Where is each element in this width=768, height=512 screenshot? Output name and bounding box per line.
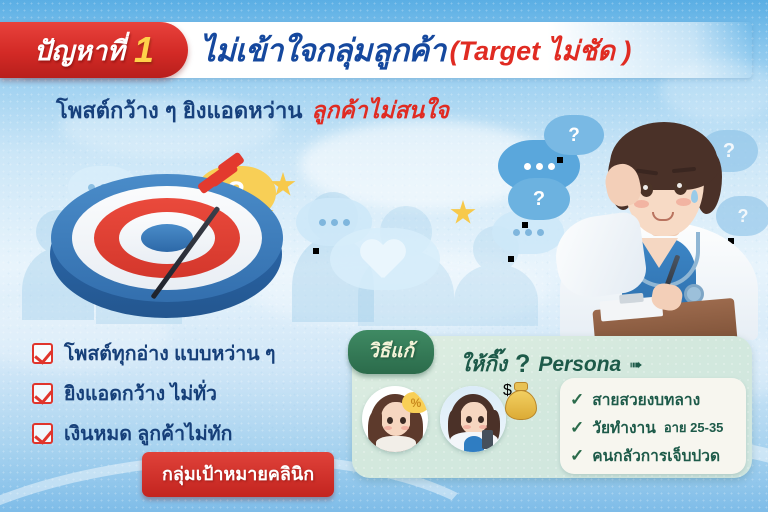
persona-trait-label: วัยทำงาน: [592, 415, 656, 440]
persona-thai-label: ให้กิ๊ง: [460, 348, 507, 381]
crowd-silhouette: [454, 226, 538, 326]
subtitle-red-text: ลูกค้าไม่สนใจ: [311, 93, 449, 129]
avatar-woman-doctor-phone[interactable]: [440, 386, 506, 452]
crowd-silhouette: [292, 192, 374, 322]
target-audience-tag[interactable]: กลุ่มเป้าหมายคลินิก: [142, 452, 334, 497]
checklist-item-label: โพสต์ทุกอ่าง แบบหว่าน ๆ: [64, 338, 275, 369]
dartboard-target-icon: [42, 150, 292, 325]
sweat-drop-icon: [691, 190, 698, 203]
checkbox-checked-icon[interactable]: [32, 423, 53, 444]
persona-trait-item: ✓ สายสวยงบทลาง: [570, 387, 746, 412]
bird-icon: ➠: [629, 355, 642, 375]
speech-bubble-heart-icon: [330, 228, 440, 290]
star-icon: [450, 200, 476, 226]
persona-traits-box: ✓ สายสวยงบทลาง ✓ วัยทำงาน อาย 25-35 ✓ คน…: [560, 378, 746, 474]
crowd-silhouette: [358, 206, 454, 326]
doctor-eye: [640, 182, 653, 197]
persona-english-label: Persona: [538, 353, 621, 377]
checklist-item[interactable]: โพสต์ทุกอ่าง แบบหว่าน ๆ: [32, 338, 275, 369]
page-title-main: ไม่เข้าใจกลุ่มลูกค้า: [200, 25, 446, 75]
doctor-eye: [674, 180, 687, 195]
cloud-shape: [250, 250, 550, 330]
persona-trait-age: อาย 25-35: [664, 417, 724, 438]
checklist-item-label: เงินหมด ลูกค้าไม่ทัก: [64, 418, 232, 449]
subtitle: โพสต์กว้าง ๆ ยิงแอดหว่าน ลูกค้าไม่สนใจ: [56, 93, 449, 129]
check-icon: ✓: [570, 446, 584, 466]
worried-doctor-illustration: [556, 108, 761, 340]
check-icon: ✓: [570, 418, 584, 438]
avatar-woman-long-hair[interactable]: %: [362, 386, 428, 452]
checklist-item[interactable]: ยิงแอดกว้าง ไม่ทั่ว: [32, 378, 275, 409]
persona-trait-label: สายสวยงบทลาง: [592, 387, 700, 412]
check-icon: ✓: [570, 390, 584, 410]
subtitle-dark-text: โพสต์กว้าง ๆ ยิงแอดหว่าน: [56, 93, 302, 128]
cloud-shape: [300, 120, 550, 210]
problem-number-badge: ปัญหาที่ 1: [0, 22, 188, 78]
persona-trait-label: คนกลัวการเจ็บปวด: [592, 443, 720, 468]
page-title-parenthetical: (Target ไม่ชัด ): [450, 29, 632, 72]
persona-question-mark: ?: [515, 350, 530, 379]
doctor-cheek-blush: [676, 198, 691, 206]
problem-checklist: โพสต์ทุกอ่าง แบบหว่าน ๆ ยิงแอดกว้าง ไม่ท…: [32, 338, 275, 458]
persona-trait-item: ✓ คนกลัวการเจ็บปวด: [570, 443, 746, 468]
persona-trait-item: ✓ วัยทำงาน อาย 25-35: [570, 415, 746, 440]
solution-pill-label[interactable]: วิธีแก้: [348, 330, 434, 374]
badge-number: 1: [134, 29, 154, 71]
badge-label: ปัญหาที่: [34, 29, 125, 72]
speech-bubble-dots-icon: [492, 210, 564, 254]
checkbox-checked-icon[interactable]: [32, 383, 53, 404]
persona-heading: ให้กิ๊ง ? Persona ➠: [460, 348, 643, 381]
arrow-fletching-icon: [202, 156, 246, 198]
checklist-item-label: ยิงแอดกว้าง ไม่ทั่ว: [64, 378, 217, 409]
page-title: ไม่เข้าใจกลุ่มลูกค้า (Target ไม่ชัด ): [200, 25, 631, 75]
percent-badge: %: [402, 392, 428, 413]
checklist-item[interactable]: เงินหมด ลูกค้าไม่ทัก: [32, 418, 275, 449]
smartphone-icon: [482, 430, 493, 449]
money-bag-icon: $: [503, 382, 539, 420]
speech-bubble-dots-icon: [296, 198, 372, 246]
checkbox-checked-icon[interactable]: [32, 343, 53, 364]
